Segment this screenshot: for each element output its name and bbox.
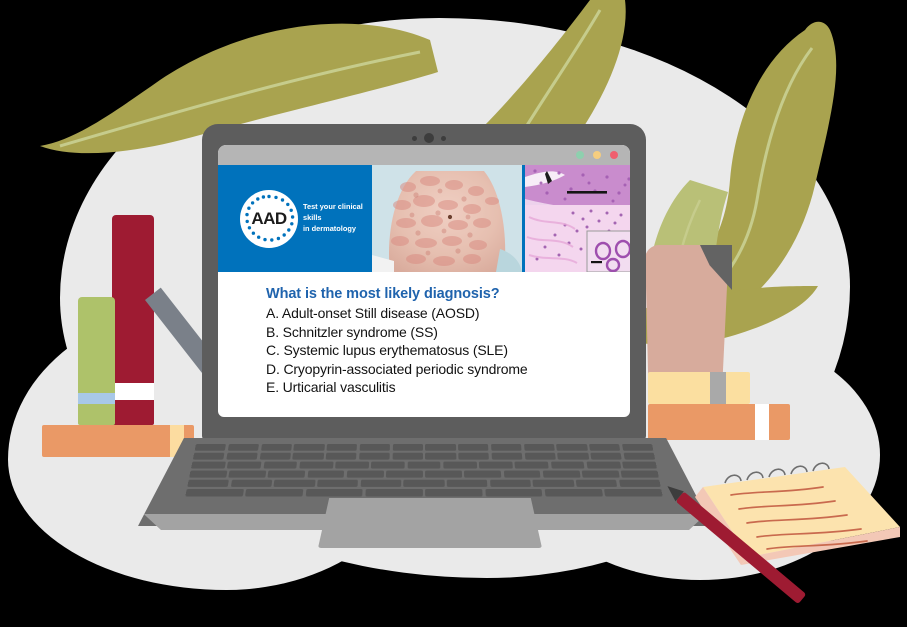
quiz-content: What is the most likely diagnosis? A. Ad… xyxy=(218,272,630,397)
keyboard-key[interactable] xyxy=(245,489,303,496)
keyboard-key[interactable] xyxy=(524,444,555,450)
keyboard-key[interactable] xyxy=(621,471,659,478)
keyboard-key[interactable] xyxy=(228,444,259,450)
keyboard-key[interactable] xyxy=(582,471,620,478)
keyboard-key[interactable] xyxy=(590,453,622,459)
aad-logo-icon: AAD xyxy=(240,190,298,248)
laptop-base-front-edge xyxy=(138,514,712,530)
aad-tagline: Test your clinical skills in dermatology xyxy=(303,202,372,234)
answer-option-b[interactable]: B. Schnitzler syndrome (SS) xyxy=(266,323,630,342)
book-olive-upright xyxy=(78,297,115,425)
keyboard-key[interactable] xyxy=(586,462,620,469)
keyboard-key[interactable] xyxy=(407,462,440,469)
keyboard-key[interactable] xyxy=(335,462,369,469)
keyboard-key[interactable] xyxy=(504,471,541,478)
keyboard-key[interactable] xyxy=(443,462,477,469)
keyboard-key[interactable] xyxy=(187,480,229,487)
keyboard-key[interactable] xyxy=(557,453,588,459)
keyboard-key[interactable] xyxy=(458,444,489,450)
book-olive-band xyxy=(78,393,115,404)
keyboard-key[interactable] xyxy=(191,462,226,469)
keyboard-key[interactable] xyxy=(491,444,522,450)
keyboard-key[interactable] xyxy=(545,489,603,496)
keyboard-key[interactable] xyxy=(622,444,654,450)
keyboard-key[interactable] xyxy=(360,480,401,487)
keyboard-key[interactable] xyxy=(425,453,456,459)
histopathology-photo xyxy=(522,165,630,272)
laptop-webcam-row xyxy=(412,133,446,143)
keyboard-key[interactable] xyxy=(447,480,488,487)
keyboard-key[interactable] xyxy=(259,453,290,459)
answer-option-c[interactable]: C. Systemic lupus erythematosus (SLE) xyxy=(266,341,630,360)
close-dot-icon[interactable] xyxy=(610,151,618,159)
keyboard-key[interactable] xyxy=(515,462,549,469)
answer-option-d[interactable]: D. Cryopyrin-associated periodic syndrom… xyxy=(266,360,630,379)
keyboard-key[interactable] xyxy=(299,462,333,469)
keyboard-key[interactable] xyxy=(185,489,243,496)
page-title: What is the most likely diagnosis? xyxy=(266,286,630,302)
book-cream-flat xyxy=(648,372,750,404)
key-row[interactable] xyxy=(189,471,659,478)
keyboard-key[interactable] xyxy=(317,480,358,487)
key-row[interactable] xyxy=(191,462,657,469)
camera-lens-icon xyxy=(424,133,434,143)
aad-tagline-line1: Test your clinical skills xyxy=(303,202,372,223)
aad-logo-text: AAD xyxy=(251,209,286,229)
keyboard-key[interactable] xyxy=(425,471,462,478)
keyboard-key[interactable] xyxy=(556,444,587,450)
keyboard-key[interactable] xyxy=(491,453,522,459)
keyboard-key[interactable] xyxy=(195,444,227,450)
keyboard-key[interactable] xyxy=(359,444,390,450)
keyboard-key[interactable] xyxy=(623,453,655,459)
keyboard-key[interactable] xyxy=(261,444,292,450)
answer-option-e[interactable]: E. Urticarial vasculitis xyxy=(266,378,630,397)
book-cream-band xyxy=(710,372,726,404)
book-red-band xyxy=(112,383,154,400)
keyboard-key[interactable] xyxy=(622,462,657,469)
keyboard-key[interactable] xyxy=(359,453,390,459)
laptop-screen: AAD Test your clinical skills in dermato… xyxy=(218,145,630,417)
clinical-photo xyxy=(372,165,522,272)
keyboard-key[interactable] xyxy=(307,471,344,478)
aad-brand-panel: AAD Test your clinical skills in dermato… xyxy=(218,165,372,272)
keyboard-key[interactable] xyxy=(305,489,363,496)
keyboard-key[interactable] xyxy=(619,480,661,487)
keyboard-key[interactable] xyxy=(231,480,273,487)
sensor-dot-icon xyxy=(441,136,446,141)
key-row[interactable] xyxy=(193,453,655,459)
keyboard-key[interactable] xyxy=(425,489,482,496)
keyboard-key[interactable] xyxy=(347,471,384,478)
slide-image-strip: AAD Test your clinical skills in dermato… xyxy=(218,165,630,272)
keyboard-key[interactable] xyxy=(604,489,662,496)
keyboard-key[interactable] xyxy=(371,462,405,469)
keyboard-key[interactable] xyxy=(292,453,323,459)
keyboard-key[interactable] xyxy=(533,480,574,487)
keyboard-key[interactable] xyxy=(365,489,422,496)
keyboard-key[interactable] xyxy=(551,462,585,469)
keyboard-key[interactable] xyxy=(227,462,261,469)
answer-option-a[interactable]: A. Adult-onset Still disease (AOSD) xyxy=(266,304,630,323)
laptop-keyboard[interactable] xyxy=(185,444,662,496)
keyboard-key[interactable] xyxy=(490,480,531,487)
illustration-scene: AAD Test your clinical skills in dermato… xyxy=(0,0,907,627)
pencil xyxy=(660,490,820,508)
keyboard-key[interactable] xyxy=(392,444,422,450)
keyboard-key[interactable] xyxy=(189,471,227,478)
keyboard-key[interactable] xyxy=(274,480,315,487)
key-row[interactable] xyxy=(187,480,660,487)
keyboard-key[interactable] xyxy=(425,444,455,450)
key-row[interactable] xyxy=(185,489,662,496)
keyboard-key[interactable] xyxy=(479,462,513,469)
browser-titlebar xyxy=(218,145,630,165)
aad-tagline-line2: in dermatology xyxy=(303,224,372,235)
keyboard-key[interactable] xyxy=(326,453,357,459)
keyboard-key[interactable] xyxy=(392,453,423,459)
keyboard-key[interactable] xyxy=(386,471,423,478)
key-row[interactable] xyxy=(195,444,654,450)
maximize-dot-icon[interactable] xyxy=(593,151,601,159)
book-orange-right-band xyxy=(755,404,769,440)
keyboard-key[interactable] xyxy=(543,471,580,478)
keyboard-key[interactable] xyxy=(485,489,543,496)
keyboard-key[interactable] xyxy=(458,453,489,459)
mic-dot-icon xyxy=(412,136,417,141)
keyboard-key[interactable] xyxy=(229,471,267,478)
keyboard-key[interactable] xyxy=(589,444,620,450)
keyboard-key[interactable] xyxy=(294,444,325,450)
keyboard-key[interactable] xyxy=(326,444,357,450)
keyboard-key[interactable] xyxy=(193,453,225,459)
keyboard-key[interactable] xyxy=(524,453,555,459)
keyboard-key[interactable] xyxy=(464,471,501,478)
keyboard-key[interactable] xyxy=(404,480,445,487)
keyboard-key[interactable] xyxy=(268,471,305,478)
keyboard-key[interactable] xyxy=(226,453,258,459)
keyboard-key[interactable] xyxy=(576,480,618,487)
keyboard-key[interactable] xyxy=(263,462,297,469)
minimize-dot-icon[interactable] xyxy=(576,151,584,159)
